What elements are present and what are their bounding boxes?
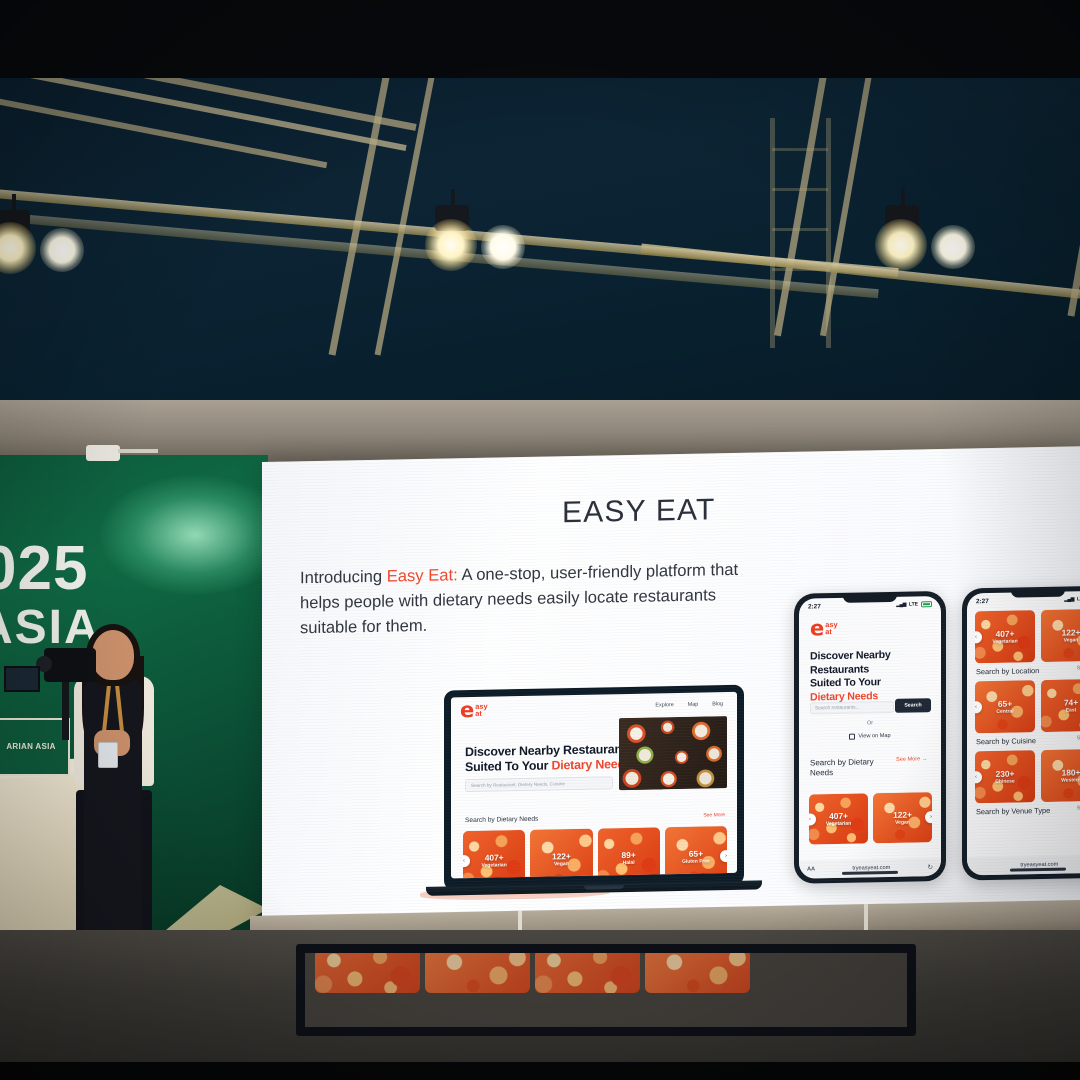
phone1-headline-line1: Discover Nearby [810,649,891,663]
phone2-section-header-venue: Search by Venue Type See More [967,805,1080,817]
see-more-link[interactable]: See More [1077,805,1080,814]
phone1-screen: 2:27 ▂▄▆ LTE e asy at [799,596,941,879]
category-count: 65+ [689,849,703,859]
category-count: 122+ [1062,627,1080,637]
category-count: 230+ [996,769,1015,779]
text-size-button[interactable]: AA [807,866,815,872]
category-card[interactable]: 74+ East [1041,679,1080,732]
speaker-badge [98,742,118,768]
logo-at: at [475,710,487,718]
phone2-screen: 2:27 ▂▄▆ LTE ‹ 407+ [967,591,1080,876]
section-label: Search by Cuisine [976,736,1036,746]
phone1-headline: Discover Nearby Restaurants Suited To Yo… [810,648,920,704]
phone2-location-card-row: ‹ 65+ Central 74+ East [967,679,1080,734]
category-label: Vegetarian [992,638,1017,644]
category-card[interactable]: › 65+ Gluten Free [665,826,727,878]
category-label: Chinese [995,779,1014,785]
category-card[interactable]: › 122+ Vegan [873,792,932,843]
phone1-search-placeholder: Search restaurants... [815,706,860,712]
category-label: Vegan [895,820,910,826]
phone2-cuisine-card-row: ‹ 230+ Chinese 180+ Western [967,749,1080,804]
phone-notch [843,594,897,603]
bottom-letterbox-band [0,1062,1080,1080]
web-headline: Discover Nearby Restaurants Suited To Yo… [465,742,645,776]
slide-body-text: Introducing Easy Eat: A one-stop, user-f… [300,557,750,641]
category-count: 122+ [552,851,571,861]
category-label: Vegetarian [481,862,506,868]
web-nav-links: Explore Map Blog [655,701,723,708]
phone2-browser-bar: AA tryeasyeat.com ↻ [967,855,1080,876]
category-count: 180+ [1062,767,1080,777]
category-card[interactable]: ‹ 407+ Vegetarian [463,830,525,878]
laptop-screen: e asy at Explore Map Blog [451,692,737,878]
backdrop-light-splash [100,475,268,595]
slide-body-prefix: Introducing [300,567,387,588]
category-count: 89+ [622,850,636,860]
section-label: Search by Location [976,666,1039,676]
web-headline-line1: Discover Nearby Restaurants [465,742,632,759]
category-count: 407+ [829,811,848,821]
slide-title: EASY EAT [562,493,716,530]
backdrop-year: 025 [0,533,88,604]
phone2-section-header-location: Search by Location See More [967,665,1080,677]
category-label: Vegan [554,861,569,867]
web-headline-line2-prefix: Suited To Your [465,759,552,775]
phone1-search-button-label: Search [904,702,921,708]
web-logo[interactable]: e asy at [460,702,488,719]
see-more-link[interactable]: See More [1077,735,1080,744]
status-time: 2:27 [808,603,821,610]
category-label: Vegetarian [826,821,851,827]
status-time: 2:27 [976,598,989,605]
phone1-see-more-link[interactable]: See More → [896,756,932,764]
presentation-screen: EASY EAT Introducing Easy Eat: A one-sto… [262,446,1080,932]
web-see-more-link[interactable]: See More [703,812,725,818]
podium-sign-text: ARIAN ASIA [6,743,55,752]
phone-mockup-home: 2:27 ▂▄▆ LTE e asy at [794,591,946,884]
camera-stand [62,680,69,740]
category-label: Central [996,709,1013,715]
phone2-sections: ‹ 407+ Vegetarian 122+ Vegan [967,609,1080,822]
phone1-logo[interactable]: e asy at [810,620,838,637]
section-label: Search by Venue Type [976,806,1050,816]
web-hero-food-image [619,716,727,790]
nav-link-blog[interactable]: Blog [712,701,723,707]
category-card[interactable]: ‹ 230+ Chinese [975,750,1035,803]
category-label: Vegan [1064,637,1079,643]
see-more-link[interactable]: See More [1077,665,1080,674]
map-icon [849,734,855,740]
secondary-monitor-cards [315,949,750,993]
phone1-browser-bar: AA tryeasyeat.com ↻ [799,858,941,879]
laptop-mockup: e asy at Explore Map Blog [444,685,744,891]
nav-link-explore[interactable]: Explore [655,702,673,708]
category-count: 407+ [485,852,504,862]
web-search-input[interactable]: Search by Restaurant, Dietary Needs, Cui… [465,776,613,792]
wall-lamp-arm [118,449,158,453]
signal-icon: ▂▄▆ [896,602,906,608]
category-card[interactable]: 89+ Halal [598,827,660,878]
wall-lamp [86,445,120,461]
web-section-label: Search by Dietary Needs [465,816,538,824]
video-camera [44,648,96,682]
phone1-search-input[interactable]: Search restaurants... [810,701,894,715]
category-count: 74+ [1064,697,1078,707]
nav-link-map[interactable]: Map [688,702,699,708]
phone-notch [1011,589,1065,598]
category-label: Gluten Free [682,858,710,865]
phone1-headline-line2: Restaurants [810,663,869,676]
phone1-section-label: Search by Dietary Needs [810,757,890,779]
carousel-next-button[interactable]: › [720,850,727,862]
category-card[interactable]: ‹ 65+ Central [975,680,1035,733]
phone1-search-button[interactable]: Search [895,698,931,713]
phone1-category-carousel: ‹ 407+ Vegetarian › 122+ Vegan [809,792,932,844]
carousel-next-button[interactable]: › [925,811,932,823]
network-label: LTE [909,601,918,607]
conference-photo-scene: 025 ASIA ARIAN ASIA EASY EAT Introducing… [0,0,1080,1080]
category-card[interactable]: ‹ 407+ Vegetarian [975,610,1035,663]
top-letterbox-band [0,0,1080,82]
category-label: Halal [623,860,635,866]
phone1-view-on-map[interactable]: View on Map [799,732,941,741]
phone1-map-label: View on Map [858,733,890,740]
laptop-notch [584,885,624,890]
reload-icon[interactable]: ↻ [927,863,933,871]
battery-icon [921,601,932,607]
slide-body-highlight: Easy Eat: [387,565,458,585]
category-label: East [1066,707,1077,713]
category-card[interactable]: ‹ 407+ Vegetarian [809,793,868,844]
phone2-top-card-row: ‹ 407+ Vegetarian 122+ Vegan [967,609,1080,664]
phone1-headline-line3: Suited To Your [810,676,881,689]
category-card[interactable]: 122+ Vegan [530,829,592,879]
signal-icon: ▂▄▆ [1064,596,1074,602]
category-count: 65+ [998,699,1012,709]
secondary-monitor [296,944,916,1036]
phone2-section-header-cuisine: Search by Cuisine See More [967,735,1080,747]
web-category-carousel: ‹ 407+ Vegetarian 122+ Vegan [463,826,727,878]
camera-monitor [4,666,40,692]
category-card[interactable]: 180+ Western [1041,749,1080,802]
phone-mockup-categories: 2:27 ▂▄▆ LTE ‹ 407+ [962,586,1080,881]
category-card[interactable]: 122+ Vegan [1041,609,1080,662]
logo-at: at [825,628,837,636]
web-search-placeholder: Search by Restaurant, Dietary Needs, Cui… [471,782,565,789]
category-label: Western [1061,777,1080,783]
category-count: 407+ [996,629,1015,639]
logo-e-glyph: e [460,702,474,719]
category-count: 122+ [893,810,912,820]
phone1-or-divider: Or [799,719,941,728]
logo-e-glyph: e [810,620,824,637]
